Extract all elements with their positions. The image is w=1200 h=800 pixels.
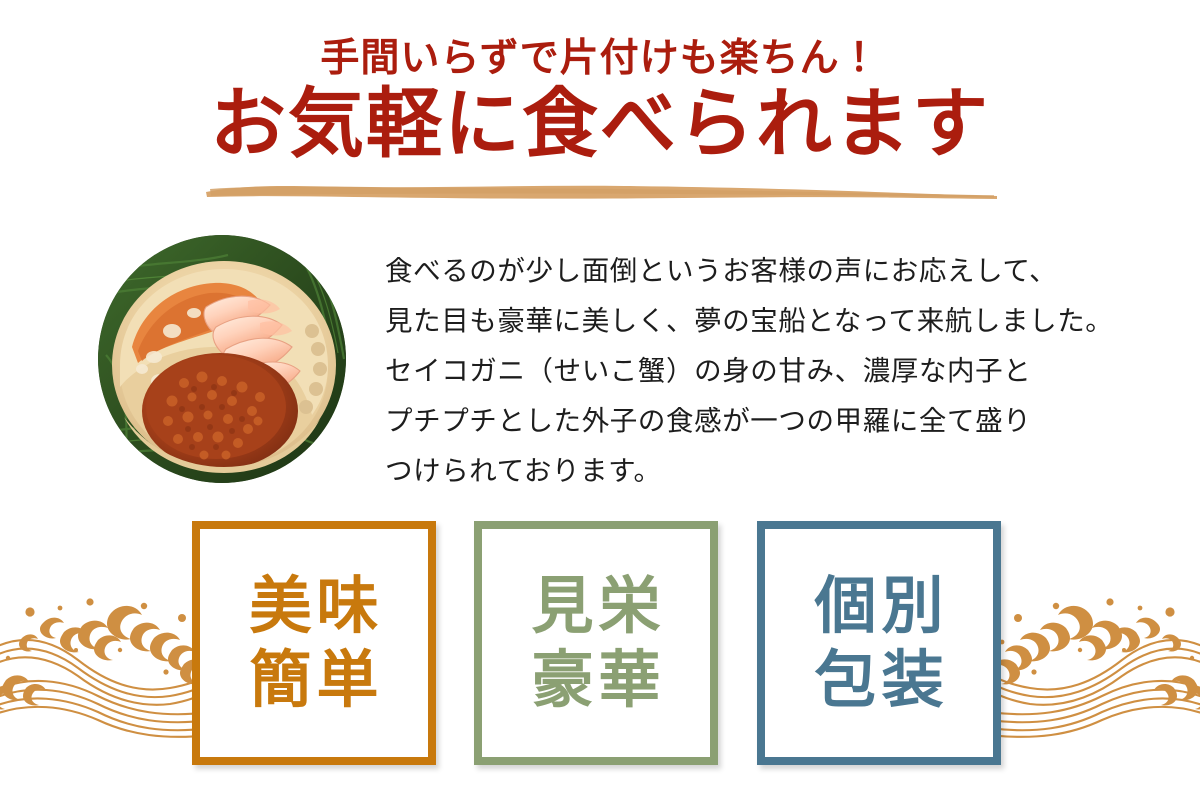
crab-photo xyxy=(98,235,346,483)
feature-line-2: 豪華 xyxy=(526,643,665,717)
wave-ornament-left xyxy=(0,588,209,738)
page-title: お気軽に食べられます xyxy=(0,84,1200,164)
feature-box-mibae-gouka[interactable]: 見栄 豪華 xyxy=(474,521,718,765)
feature-line-2: 簡単 xyxy=(244,643,383,717)
brush-underline-ornament xyxy=(204,181,999,202)
feature-box-kobetsu-housou[interactable]: 個別 包装 xyxy=(757,521,1001,765)
intro-description: 食べるのが少し面倒というお客様の声にお応えして、 見た目も豪華に美しく、夢の宝船… xyxy=(385,246,1115,496)
feature-line-1: 美味 xyxy=(244,569,383,643)
promo-page: 手間いらずで片付けも楽ちん！ お気軽に食べられます xyxy=(0,0,1200,800)
kicker-text: 手間いらずで片付けも楽ちん！ xyxy=(0,38,1200,79)
feature-box-oishii-kantan[interactable]: 美味 簡単 xyxy=(192,521,436,765)
hero-section: 手間いらずで片付けも楽ちん！ お気軽に食べられます xyxy=(0,0,1200,215)
feature-line-1: 個別 xyxy=(809,569,948,643)
wave-ornament-right xyxy=(991,588,1200,738)
feature-line-2: 包装 xyxy=(809,643,948,717)
feature-line-1: 見栄 xyxy=(526,569,665,643)
intro-section: 食べるのが少し面倒というお客様の声にお応えして、 見た目も豪華に美しく、夢の宝船… xyxy=(0,228,1200,490)
